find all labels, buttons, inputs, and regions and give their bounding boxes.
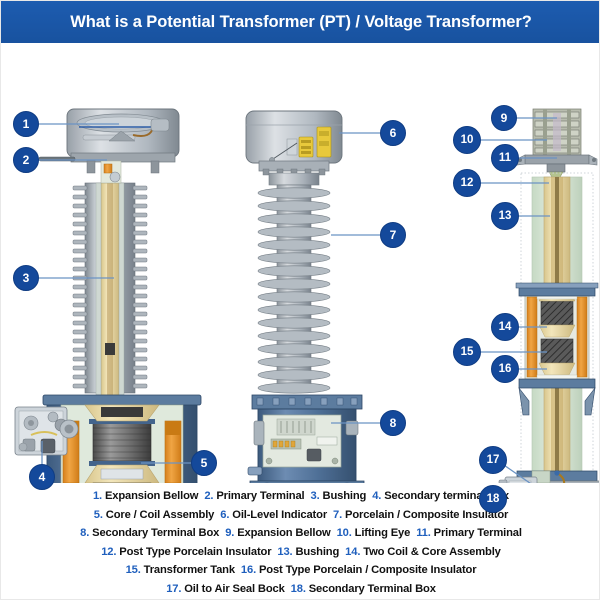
diagram-stage: 123456789101112131415161718 <box>1 43 600 483</box>
callout-marker-16[interactable]: 16 <box>491 355 519 383</box>
middle-oil-level-indicator-housing <box>246 111 342 163</box>
callout-marker-6[interactable]: 6 <box>380 120 406 146</box>
legend-item-label: Bushing <box>323 490 367 502</box>
right-expansion-bellow <box>533 109 581 155</box>
callout-marker-13[interactable]: 13 <box>491 202 519 230</box>
legend-item: 8. Secondary Terminal Box <box>80 527 219 539</box>
header-bar: What is a Potential Transformer (PT) / V… <box>1 1 600 43</box>
legend: 1. Expansion Bellow2. Primary Terminal3.… <box>1 483 600 600</box>
legend-item: 10. Lifting Eye <box>337 527 411 539</box>
legend-item-number: 7. <box>333 509 345 521</box>
legend-item-number: 14. <box>345 546 363 558</box>
legend-item: 6. Oil-Level Indicator <box>220 509 327 521</box>
legend-item-number: 1. <box>93 490 105 502</box>
infographic-page: What is a Potential Transformer (PT) / V… <box>0 0 600 600</box>
legend-line: 5. Core / Coil Assembly6. Oil-Level Indi… <box>1 506 600 525</box>
legend-item-number: 8. <box>80 527 92 539</box>
callout-marker-1[interactable]: 1 <box>13 111 39 137</box>
legend-line: 8. Secondary Terminal Box9. Expansion Be… <box>1 524 600 543</box>
legend-item-number: 3. <box>311 490 323 502</box>
legend-item: 17. Oil to Air Seal Bock <box>166 583 284 595</box>
legend-item: 2. Primary Terminal <box>204 490 304 502</box>
legend-item-label: Secondary Terminal Box <box>92 527 219 539</box>
middle-transformer-tank <box>244 395 370 483</box>
legend-item-number: 15. <box>126 564 144 576</box>
legend-line: 1. Expansion Bellow2. Primary Terminal3.… <box>1 487 600 506</box>
callout-marker-14[interactable]: 14 <box>491 313 519 341</box>
legend-item-label: Lifting Eye <box>355 527 411 539</box>
callout-marker-17[interactable]: 17 <box>479 446 507 474</box>
callout-marker-12[interactable]: 12 <box>453 169 481 197</box>
legend-item-number: 11. <box>416 527 433 539</box>
callout-marker-11[interactable]: 11 <box>491 144 519 172</box>
legend-item-label: Expansion Bellow <box>105 490 198 502</box>
legend-item-label: Two Coil & Core Assembly <box>363 546 501 558</box>
callout-marker-3[interactable]: 3 <box>13 265 39 291</box>
legend-item-number: 16. <box>241 564 259 576</box>
legend-item-label: Bushing <box>295 546 339 558</box>
middle-unit-illustration <box>244 111 370 483</box>
legend-item-number: 13. <box>277 546 295 558</box>
legend-item: 3. Bushing <box>311 490 367 502</box>
legend-item: 15. Transformer Tank <box>126 564 235 576</box>
legend-item-number: 4. <box>372 490 384 502</box>
callout-marker-8[interactable]: 8 <box>380 410 406 436</box>
callout-marker-10[interactable]: 10 <box>453 126 481 154</box>
callout-marker-2[interactable]: 2 <box>13 147 39 173</box>
right-lifting-eye <box>517 155 597 165</box>
legend-item-label: Transformer Tank <box>144 564 235 576</box>
legend-item: 11. Primary Terminal <box>416 527 522 539</box>
legend-item: 9. Expansion Bellow <box>225 527 330 539</box>
legend-item-number: 6. <box>220 509 232 521</box>
legend-line: 17. Oil to Air Seal Bock18. Secondary Te… <box>1 580 600 599</box>
legend-item-label: Post Type Porcelain Insulator <box>119 546 271 558</box>
legend-item-label: Oil to Air Seal Bock <box>184 583 284 595</box>
legend-item-number: 2. <box>204 490 216 502</box>
legend-item-label: Core / Coil Assembly <box>106 509 215 521</box>
callout-marker-15[interactable]: 15 <box>453 338 481 366</box>
middle-porcelain-insulator <box>258 185 330 393</box>
legend-item: 1. Expansion Bellow <box>93 490 198 502</box>
legend-line: 15. Transformer Tank16. Post Type Porcel… <box>1 561 600 580</box>
legend-item-number: 18. <box>291 583 309 595</box>
legend-item: 18. Secondary Terminal Box <box>291 583 436 595</box>
legend-item-number: 10. <box>337 527 355 539</box>
legend-item-label: Post Type Porcelain / Composite Insulato… <box>259 564 476 576</box>
left-top-connector <box>101 161 121 183</box>
legend-item: 16. Post Type Porcelain / Composite Insu… <box>241 564 477 576</box>
legend-item: 5. Core / Coil Assembly <box>94 509 215 521</box>
legend-item: 14. Two Coil & Core Assembly <box>345 546 501 558</box>
right-two-coil-core-assembly <box>525 289 589 379</box>
legend-item-number: 17. <box>166 583 184 595</box>
legend-line: 12. Post Type Porcelain Insulator13. Bus… <box>1 543 600 562</box>
legend-item-label: Primary Terminal <box>434 527 522 539</box>
legend-item: 7. Porcelain / Composite Insulator <box>333 509 508 521</box>
page-title: What is a Potential Transformer (PT) / V… <box>70 13 531 32</box>
callout-marker-18[interactable]: 18 <box>479 485 507 513</box>
legend-item-number: 9. <box>225 527 237 539</box>
legend-item-number: 5. <box>94 509 106 521</box>
callout-marker-9[interactable]: 9 <box>491 105 517 131</box>
legend-item-label: Expansion Bellow <box>237 527 330 539</box>
legend-item: 12. Post Type Porcelain Insulator <box>101 546 271 558</box>
callout-marker-7[interactable]: 7 <box>380 222 406 248</box>
legend-item-label: Primary Terminal <box>216 490 304 502</box>
callout-marker-4[interactable]: 4 <box>29 464 55 490</box>
legend-item: 13. Bushing <box>277 546 339 558</box>
callout-marker-5[interactable]: 5 <box>191 450 217 476</box>
left-bushing-column <box>73 183 147 395</box>
legend-item-label: Porcelain / Composite Insulator <box>345 509 508 521</box>
legend-item-label: Oil-Level Indicator <box>232 509 327 521</box>
left-unit-illustration <box>15 109 203 483</box>
legend-item-label: Secondary Terminal Box <box>309 583 436 595</box>
legend-item-number: 12. <box>101 546 119 558</box>
